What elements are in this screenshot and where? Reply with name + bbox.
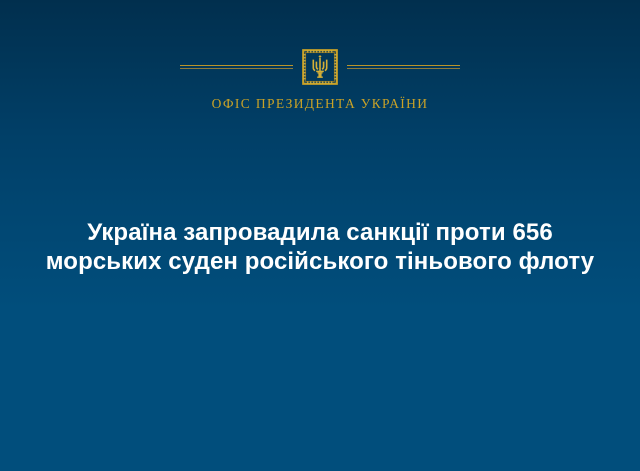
headline-line-2: морських суден російського тіньового фло…: [14, 247, 626, 276]
masthead: ОФІС ПРЕЗИДЕНТА УКРАЇНИ: [0, 46, 640, 111]
announcement-card: ОФІС ПРЕЗИДЕНТА УКРАЇНИ Україна запровад…: [0, 0, 640, 471]
crest-row: [0, 46, 640, 88]
page-title: Україна запровадила санкції проти 656 мо…: [0, 218, 640, 276]
headline-line-1: Україна запровадила санкції проти 656: [14, 218, 626, 247]
office-name: ОФІС ПРЕЗИДЕНТА УКРАЇНИ: [212, 97, 429, 111]
horizontal-rule-left-icon: [180, 65, 293, 69]
horizontal-rule-right-icon: [347, 65, 460, 69]
ukraine-trident-emblem-icon: [302, 49, 338, 85]
